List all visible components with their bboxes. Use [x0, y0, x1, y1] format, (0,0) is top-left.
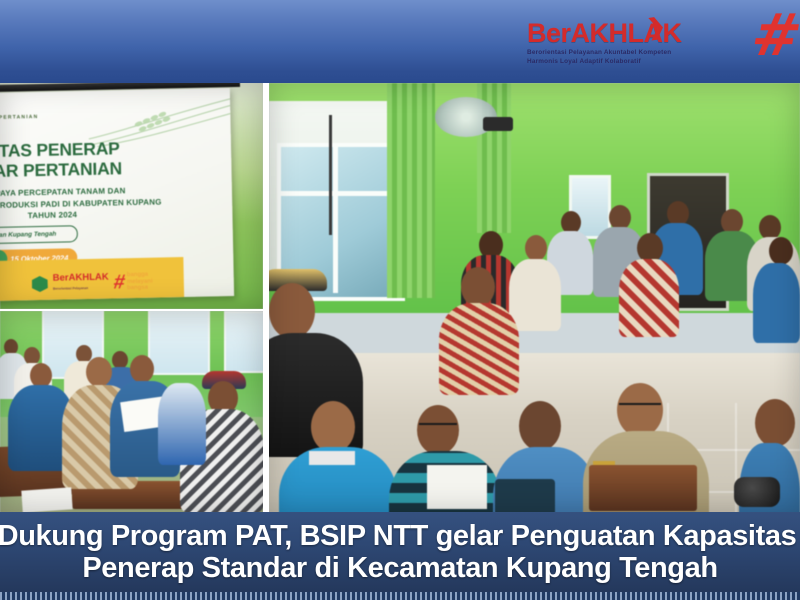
banner-berakhlak-text: BerAKHLAK	[53, 272, 109, 284]
banner-title-line2: STANDAR PERTANIAN	[0, 157, 186, 182]
fan-pole	[329, 115, 332, 235]
banner-subtitle: MENDUKUNG UPAYA PERCEPATAN TANAM DAN PEN…	[0, 184, 173, 224]
berakhlak-tagline-line2: Harmonis Loyal Adaptif Kolaboratif	[527, 58, 707, 66]
audience-window-2	[148, 311, 210, 375]
group-person-body	[619, 259, 679, 337]
news-article-image: BerAKHLAK ❯ Berorientasi Pelayanan Akunt…	[0, 0, 800, 600]
banner-sheet: KEMENTERIAN PERTANIAN KAPASITAS PENERAP …	[0, 88, 234, 302]
bottom-dotted-divider	[0, 592, 800, 600]
group-person-head	[525, 235, 547, 261]
banner-title: KAPASITAS PENERAP STANDAR PERTANIAN	[0, 137, 186, 182]
audience-seated-photo	[0, 311, 263, 513]
group-officer-glasses-icon	[619, 403, 661, 413]
group-wall-fan-icon	[435, 97, 513, 141]
group-person-head	[311, 401, 355, 453]
group-person-body	[509, 259, 561, 331]
group-person-head	[461, 267, 495, 307]
kementan-logo-icon	[32, 276, 48, 292]
group-person-head	[519, 401, 561, 451]
group-window-mullion-v	[333, 143, 338, 293]
audience-paper-foreground	[21, 487, 72, 512]
headline-line-1: Dukung Program PAT, BSIP NTT gelar Pengu…	[0, 519, 796, 553]
headline-line-2: Penerap Standar di Kecamatan Kupang Teng…	[82, 551, 717, 585]
berakhlak-arrow-icon: ❯	[645, 13, 667, 41]
group-curtain-left	[387, 83, 435, 298]
banner-bangga-hash-icon: #	[112, 272, 126, 292]
group-person-head	[269, 283, 315, 339]
header-band: BerAKHLAK ❯ Berorientasi Pelayanan Akunt…	[0, 0, 800, 83]
group-person-document	[427, 465, 487, 509]
seminar-banner-photo: KEMENTERIAN PERTANIAN KAPASITAS PENERAP …	[0, 83, 263, 309]
group-person-collar	[309, 451, 355, 465]
berakhlak-logo: BerAKHLAK ❯ Berorientasi Pelayanan Akunt…	[527, 18, 707, 68]
group-person-body	[753, 263, 800, 343]
photo-collage: KEMENTERIAN PERTANIAN KAPASITAS PENERAP …	[0, 83, 800, 513]
fan-body-icon	[483, 117, 513, 131]
banner-kecamatan-badge: Kecamatan Kupang Tengah	[0, 225, 78, 245]
group-person-satchel	[495, 479, 555, 513]
berakhlak-wordmark: BerAKHLAK	[527, 18, 707, 48]
group-person-body	[439, 303, 519, 395]
banner-bangga-text: bangga melayani bangsa	[127, 272, 153, 292]
audience-person-head	[130, 355, 154, 383]
group-person-glasses-icon	[419, 423, 457, 432]
banner-ministry-text: KEMENTERIAN PERTANIAN	[0, 114, 38, 122]
berakhlak-tagline-line1: Berorientasi Pelayanan Akuntabel Kompete…	[527, 49, 707, 57]
banner-berakhlak-sub: Berorientasi Pelayanan	[53, 283, 109, 294]
group-participants-photo	[269, 83, 800, 513]
group-window-mullion-h	[277, 191, 397, 196]
banner-bangga-logo: # bangga melayani bangsa	[114, 272, 153, 293]
banner-logo-row: BerAKHLAK Berorientasi Pelayanan # bangg…	[32, 268, 193, 297]
audience-person-body	[158, 383, 206, 465]
group-helmet-bag	[734, 477, 780, 507]
audience-window-3	[224, 311, 263, 373]
headline-bar: Dukung Program PAT, BSIP NTT gelar Pengu…	[0, 512, 800, 592]
banner-berakhlak-logo: BerAKHLAK Berorientasi Pelayanan	[53, 273, 109, 294]
bangga-melayani-bangsa-hash-icon: #	[747, 6, 800, 68]
group-chair	[589, 465, 697, 511]
audience-person-head	[86, 357, 112, 387]
group-person-head	[755, 399, 795, 447]
group-person-head	[769, 237, 793, 265]
